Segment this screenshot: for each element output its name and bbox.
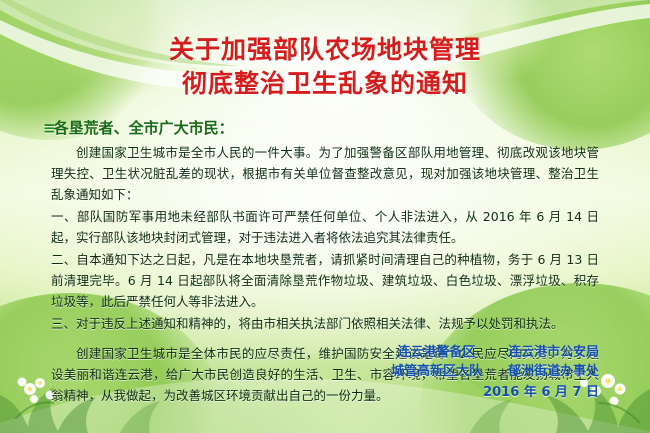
signoff-block: 连云港警备区 城管高新区大队 连云港市公安局 郁洲街道办事处 2016 年 6 … (391, 343, 599, 402)
signoff-right-line-1: 连云港市公安局 (508, 343, 599, 362)
notice-card: 关于加强部队农场地块管理 彻底整治卫生乱象的通知 ≡各垦荒者、全市广大市民： 创… (16, 14, 634, 419)
title-line-1: 关于加强部队农场地块管理 (17, 33, 633, 67)
signoff-right-line-2: 郁洲街道办事处 (508, 362, 599, 381)
notice-poster: 关于加强部队农场地块管理 彻底整治卫生乱象的通知 ≡各垦荒者、全市广大市民： 创… (0, 0, 650, 433)
signoff-right: 连云港市公安局 郁洲街道办事处 (508, 343, 599, 381)
signoff-left-line-2: 城管高新区大队 (391, 362, 482, 381)
title-line-2: 彻底整治卫生乱象的通知 (17, 67, 633, 101)
paragraph: 二、自本通知下达之日起，凡是在本地块垦荒者，请抓紧时间清理自己的种植物，务于 6… (51, 249, 599, 312)
signoff-columns: 连云港警备区 城管高新区大队 连云港市公安局 郁洲街道办事处 (391, 343, 599, 381)
page-title: 关于加强部队农场地块管理 彻底整治卫生乱象的通知 (17, 33, 633, 101)
paragraph-spacer (51, 335, 599, 343)
signoff-date: 2016 年 6 月 7 日 (391, 383, 599, 402)
salutation: ≡各垦荒者、全市广大市民： (43, 117, 633, 138)
salutation-text: 各垦荒者、全市广大市民： (54, 119, 234, 137)
paragraph: 一、部队国防军事用地未经部队书面许可严禁任何单位、个人非法进入，从 2016 年… (51, 206, 599, 248)
signoff-left: 连云港警备区 城管高新区大队 (391, 343, 482, 381)
paragraph: 创建国家卫生城市是全市人民的一件大事。为了加强警备区部队用地管理、彻底改观该地块… (51, 142, 599, 205)
signoff-left-line-1: 连云港警备区 (391, 343, 482, 362)
salutation-deco-icon: ≡ (43, 119, 54, 137)
paragraph: 三、对于违反上述通知和精神的，将由市相关执法部门依照相关法律、法规予以处罚和执法… (51, 313, 599, 334)
